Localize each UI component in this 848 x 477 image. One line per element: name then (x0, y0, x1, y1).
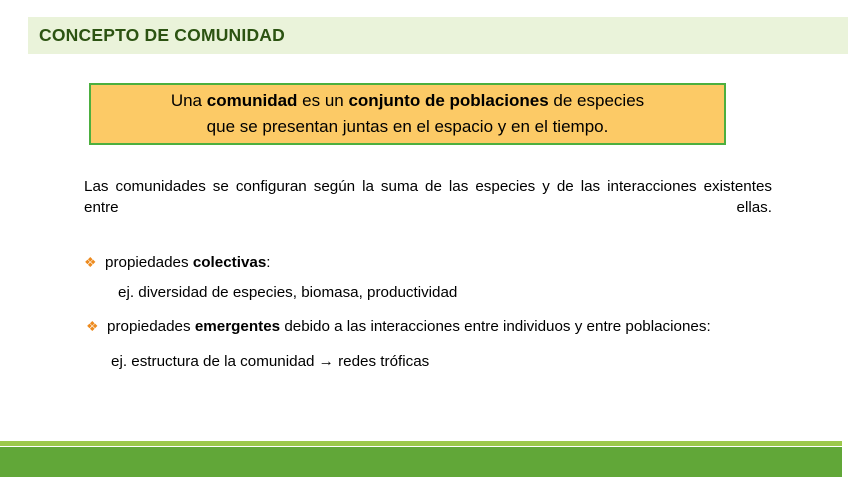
bullet-1-text: propiedades colectivas: (105, 252, 772, 273)
page-title: CONCEPTO DE COMUNIDAD (28, 25, 285, 46)
bullet-2-pre: propiedades (107, 318, 195, 335)
slide-title-band: CONCEPTO DE COMUNIDAD (28, 17, 848, 54)
bullet-1-bold: colectivas (193, 254, 266, 271)
callout-bold-conjunto: conjunto de poblaciones (348, 91, 548, 110)
slide: CONCEPTO DE COMUNIDAD Una comunidad es u… (0, 0, 848, 477)
bullet-2-example: ej. estructura de la comunidad → redes t… (84, 351, 772, 372)
bullet-1-pre: propiedades (105, 254, 193, 271)
bullet-2-bold: emergentes (195, 318, 280, 335)
bullet-2-post: debido a las interacciones entre individ… (280, 318, 711, 335)
bullet-1-example: ej. diversidad de especies, biomasa, pro… (84, 282, 772, 303)
definition-callout-box: Una comunidad es un conjunto de poblacio… (89, 83, 726, 145)
callout-text-mid: es un (297, 91, 348, 110)
diamond-bullet-icon: ❖ (84, 252, 105, 273)
bullet-2-text: propiedades emergentes debido a las inte… (107, 316, 772, 337)
callout-text-post: de especies (549, 91, 644, 110)
intro-paragraph: Las comunidades se configuran según la s… (84, 176, 772, 239)
footer-bar (0, 447, 842, 477)
diamond-bullet-icon: ❖ (84, 316, 107, 337)
list-item: ❖ propiedades emergentes debido a las in… (84, 316, 772, 337)
callout-line-1: Una comunidad es un conjunto de poblacio… (171, 88, 644, 114)
bullet-1-post: : (266, 254, 270, 271)
slide-body: Las comunidades se configuran según la s… (84, 176, 772, 372)
footer-accent-line (0, 441, 842, 446)
callout-bold-comunidad: comunidad (207, 91, 298, 110)
list-item: ❖ propiedades colectivas: (84, 252, 772, 273)
callout-text-pre: Una (171, 91, 207, 110)
callout-line-2: que se presentan juntas en el espacio y … (207, 114, 609, 140)
